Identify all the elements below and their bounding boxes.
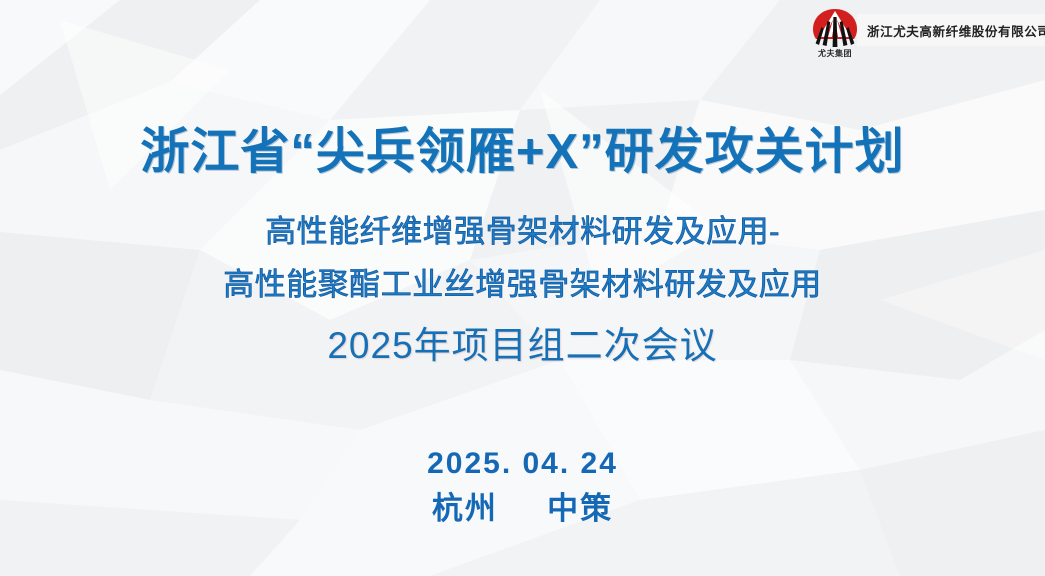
slide-header: 尤夫集团 浙江尤夫高新纤维股份有限公司: [0, 0, 1045, 74]
meeting-place-company: 中策: [547, 491, 613, 526]
slide-text-stack: 浙江省“尖兵领雁+X”研发攻关计划 高性能纤维增强骨架材料研发及应用- 高性能聚…: [0, 0, 1045, 576]
meeting-place: 杭州 中策: [0, 488, 1045, 530]
meeting-title: 2025年项目组二次会议: [0, 322, 1045, 370]
main-title: 浙江省“尖兵领雁+X”研发攻关计划: [0, 122, 1045, 182]
company-name: 浙江尤夫高新纤维股份有限公司: [867, 21, 1045, 40]
red-fan-sunburst-logo-icon: [811, 6, 859, 48]
subtitle-line-2: 高性能聚酯工业丝增强骨架材料研发及应用: [0, 264, 1045, 306]
company-name-plate: 浙江尤夫高新纤维股份有限公司: [857, 14, 1045, 46]
meeting-place-city: 杭州: [432, 491, 498, 526]
subtitle-line-1: 高性能纤维增强骨架材料研发及应用-: [0, 211, 1045, 253]
meeting-date: 2025. 04. 24: [0, 444, 1045, 484]
presentation-slide: 尤夫集团 浙江尤夫高新纤维股份有限公司 浙江省“尖兵领雁+X”研发攻关计划 高性…: [0, 0, 1045, 576]
logo-subtext: 尤夫集团: [801, 49, 869, 59]
